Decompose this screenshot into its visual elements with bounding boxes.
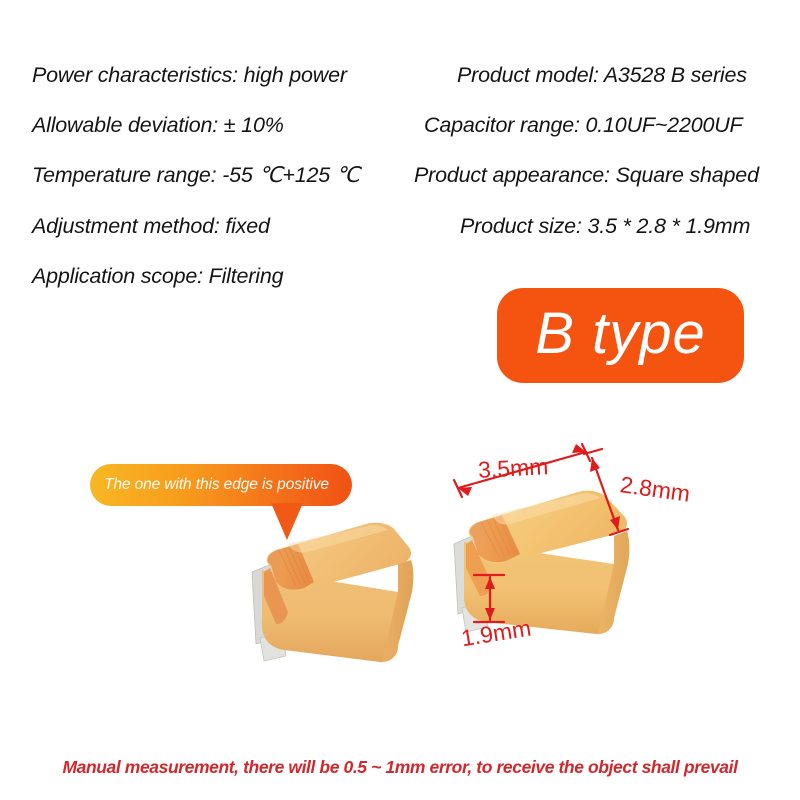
spec-product-appearance: Product appearance: Square shaped	[414, 163, 759, 188]
positive-edge-callout-label: The one with this edge is positive	[90, 476, 329, 494]
spec-allowable-deviation: Allowable deviation: ± 10%	[32, 113, 284, 138]
spec-product-model: Product model: A3528 B series	[457, 63, 747, 88]
spec-power-characteristics: Power characteristics: high power	[32, 63, 347, 88]
b-type-badge: B type	[497, 288, 744, 383]
product-spec-page: Power characteristics: high power Allowa…	[0, 0, 800, 800]
spec-adjustment-method: Adjustment method: fixed	[32, 214, 270, 239]
measurement-disclaimer: Manual measurement, there will be 0.5 ~ …	[0, 757, 800, 778]
b-type-badge-label: B type	[535, 305, 705, 367]
spec-product-size: Product size: 3.5 * 2.8 * 1.9mm	[460, 214, 750, 239]
spec-application-scope: Application scope: Filtering	[32, 264, 283, 289]
dimension-label-width: 3.5mm	[477, 453, 549, 484]
spec-capacitor-range: Capacitor range: 0.10UF~2200UF	[424, 113, 742, 138]
tantalum-capacitor-left	[248, 520, 418, 670]
spec-temperature-range: Temperature range: -55 ℃+125 ℃	[32, 163, 360, 188]
positive-edge-callout: The one with this edge is positive	[90, 464, 352, 506]
